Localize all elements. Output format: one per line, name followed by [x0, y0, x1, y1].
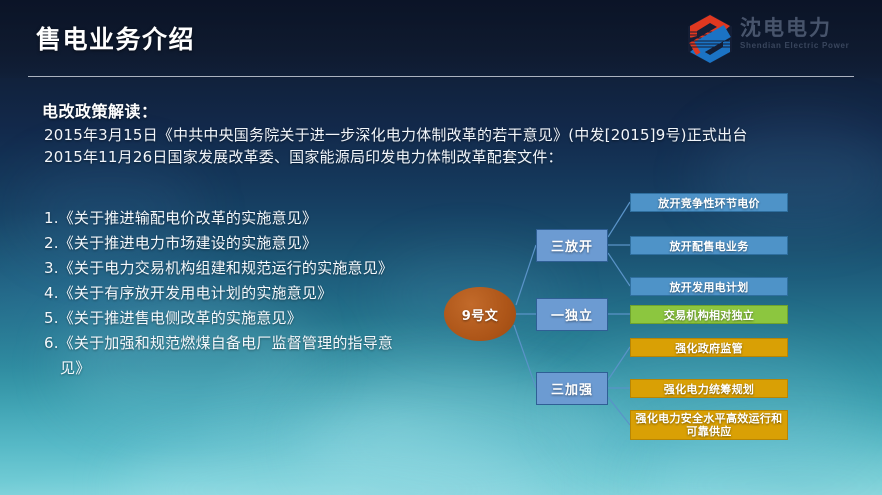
list-item: 1.《关于推进输配电价改革的实施意见》 — [44, 206, 394, 231]
logo-wordmark: 沈电电力 Shendian Electric Power — [740, 16, 872, 52]
diagram-leaf-node[interactable]: 交易机构相对独立 — [630, 305, 788, 324]
list-item: 4.《关于有序放开发用电计划的实施意见》 — [44, 281, 394, 306]
header-divider — [28, 76, 854, 77]
policy-line-2: 2015年11月26日国家发展改革委、国家能源局印发电力体制改革配套文件： — [44, 146, 563, 167]
policy-line-1: 2015年3月15日《中共中央国务院关于进一步深化电力体制改革的若干意见》(中发… — [44, 124, 748, 145]
diagram-branch-node[interactable]: 一独立 — [536, 298, 608, 331]
logo-name-cn: 沈电电力 — [740, 16, 872, 40]
company-logo: 沈电电力 Shendian Electric Power — [684, 10, 874, 68]
list-item: 2.《关于推进电力市场建设的实施意见》 — [44, 231, 394, 256]
diagram-leaf-node[interactable]: 强化电力安全水平高效运行和可靠供应 — [630, 410, 788, 440]
logo-name-en: Shendian Electric Power — [740, 40, 872, 52]
diagram-root-node[interactable]: 9号文 — [444, 287, 516, 341]
diagram-leaf-node[interactable]: 放开发用电计划 — [630, 277, 788, 296]
diagram-branch-node[interactable]: 三加强 — [536, 372, 608, 405]
diagram-leaf-node[interactable]: 放开配售电业务 — [630, 236, 788, 255]
diagram-branch-node[interactable]: 三放开 — [536, 229, 608, 262]
page-title: 售电业务介绍 — [36, 20, 195, 56]
policy-structure-diagram: 9号文 三放开 一独立 三加强 放开竞争性环节电价 放开配售电业务 放开发用电计… — [430, 180, 880, 450]
list-item: 5.《关于推进售电侧改革的实施意见》 — [44, 306, 394, 331]
diagram-leaf-node[interactable]: 放开竞争性环节电价 — [630, 193, 788, 212]
list-item: 6.《关于加强和规范燃煤自备电厂监督管理的指导意见》 — [44, 331, 394, 381]
diagram-leaf-label: 强化电力安全水平高效运行和可靠供应 — [631, 412, 787, 438]
diagram-leaf-node[interactable]: 强化政府监管 — [630, 338, 788, 357]
diagram-leaf-node[interactable]: 强化电力统筹规划 — [630, 379, 788, 398]
shendian-hex-s-logo-icon — [684, 12, 736, 66]
slide-canvas: 售电业务介绍 — [0, 0, 882, 495]
section-heading: 电改政策解读： — [42, 98, 158, 122]
list-item: 3.《关于电力交易机构组建和规范运行的实施意见》 — [44, 256, 394, 281]
document-list: 1.《关于推进输配电价改革的实施意见》 2.《关于推进电力市场建设的实施意见》 … — [44, 206, 394, 381]
